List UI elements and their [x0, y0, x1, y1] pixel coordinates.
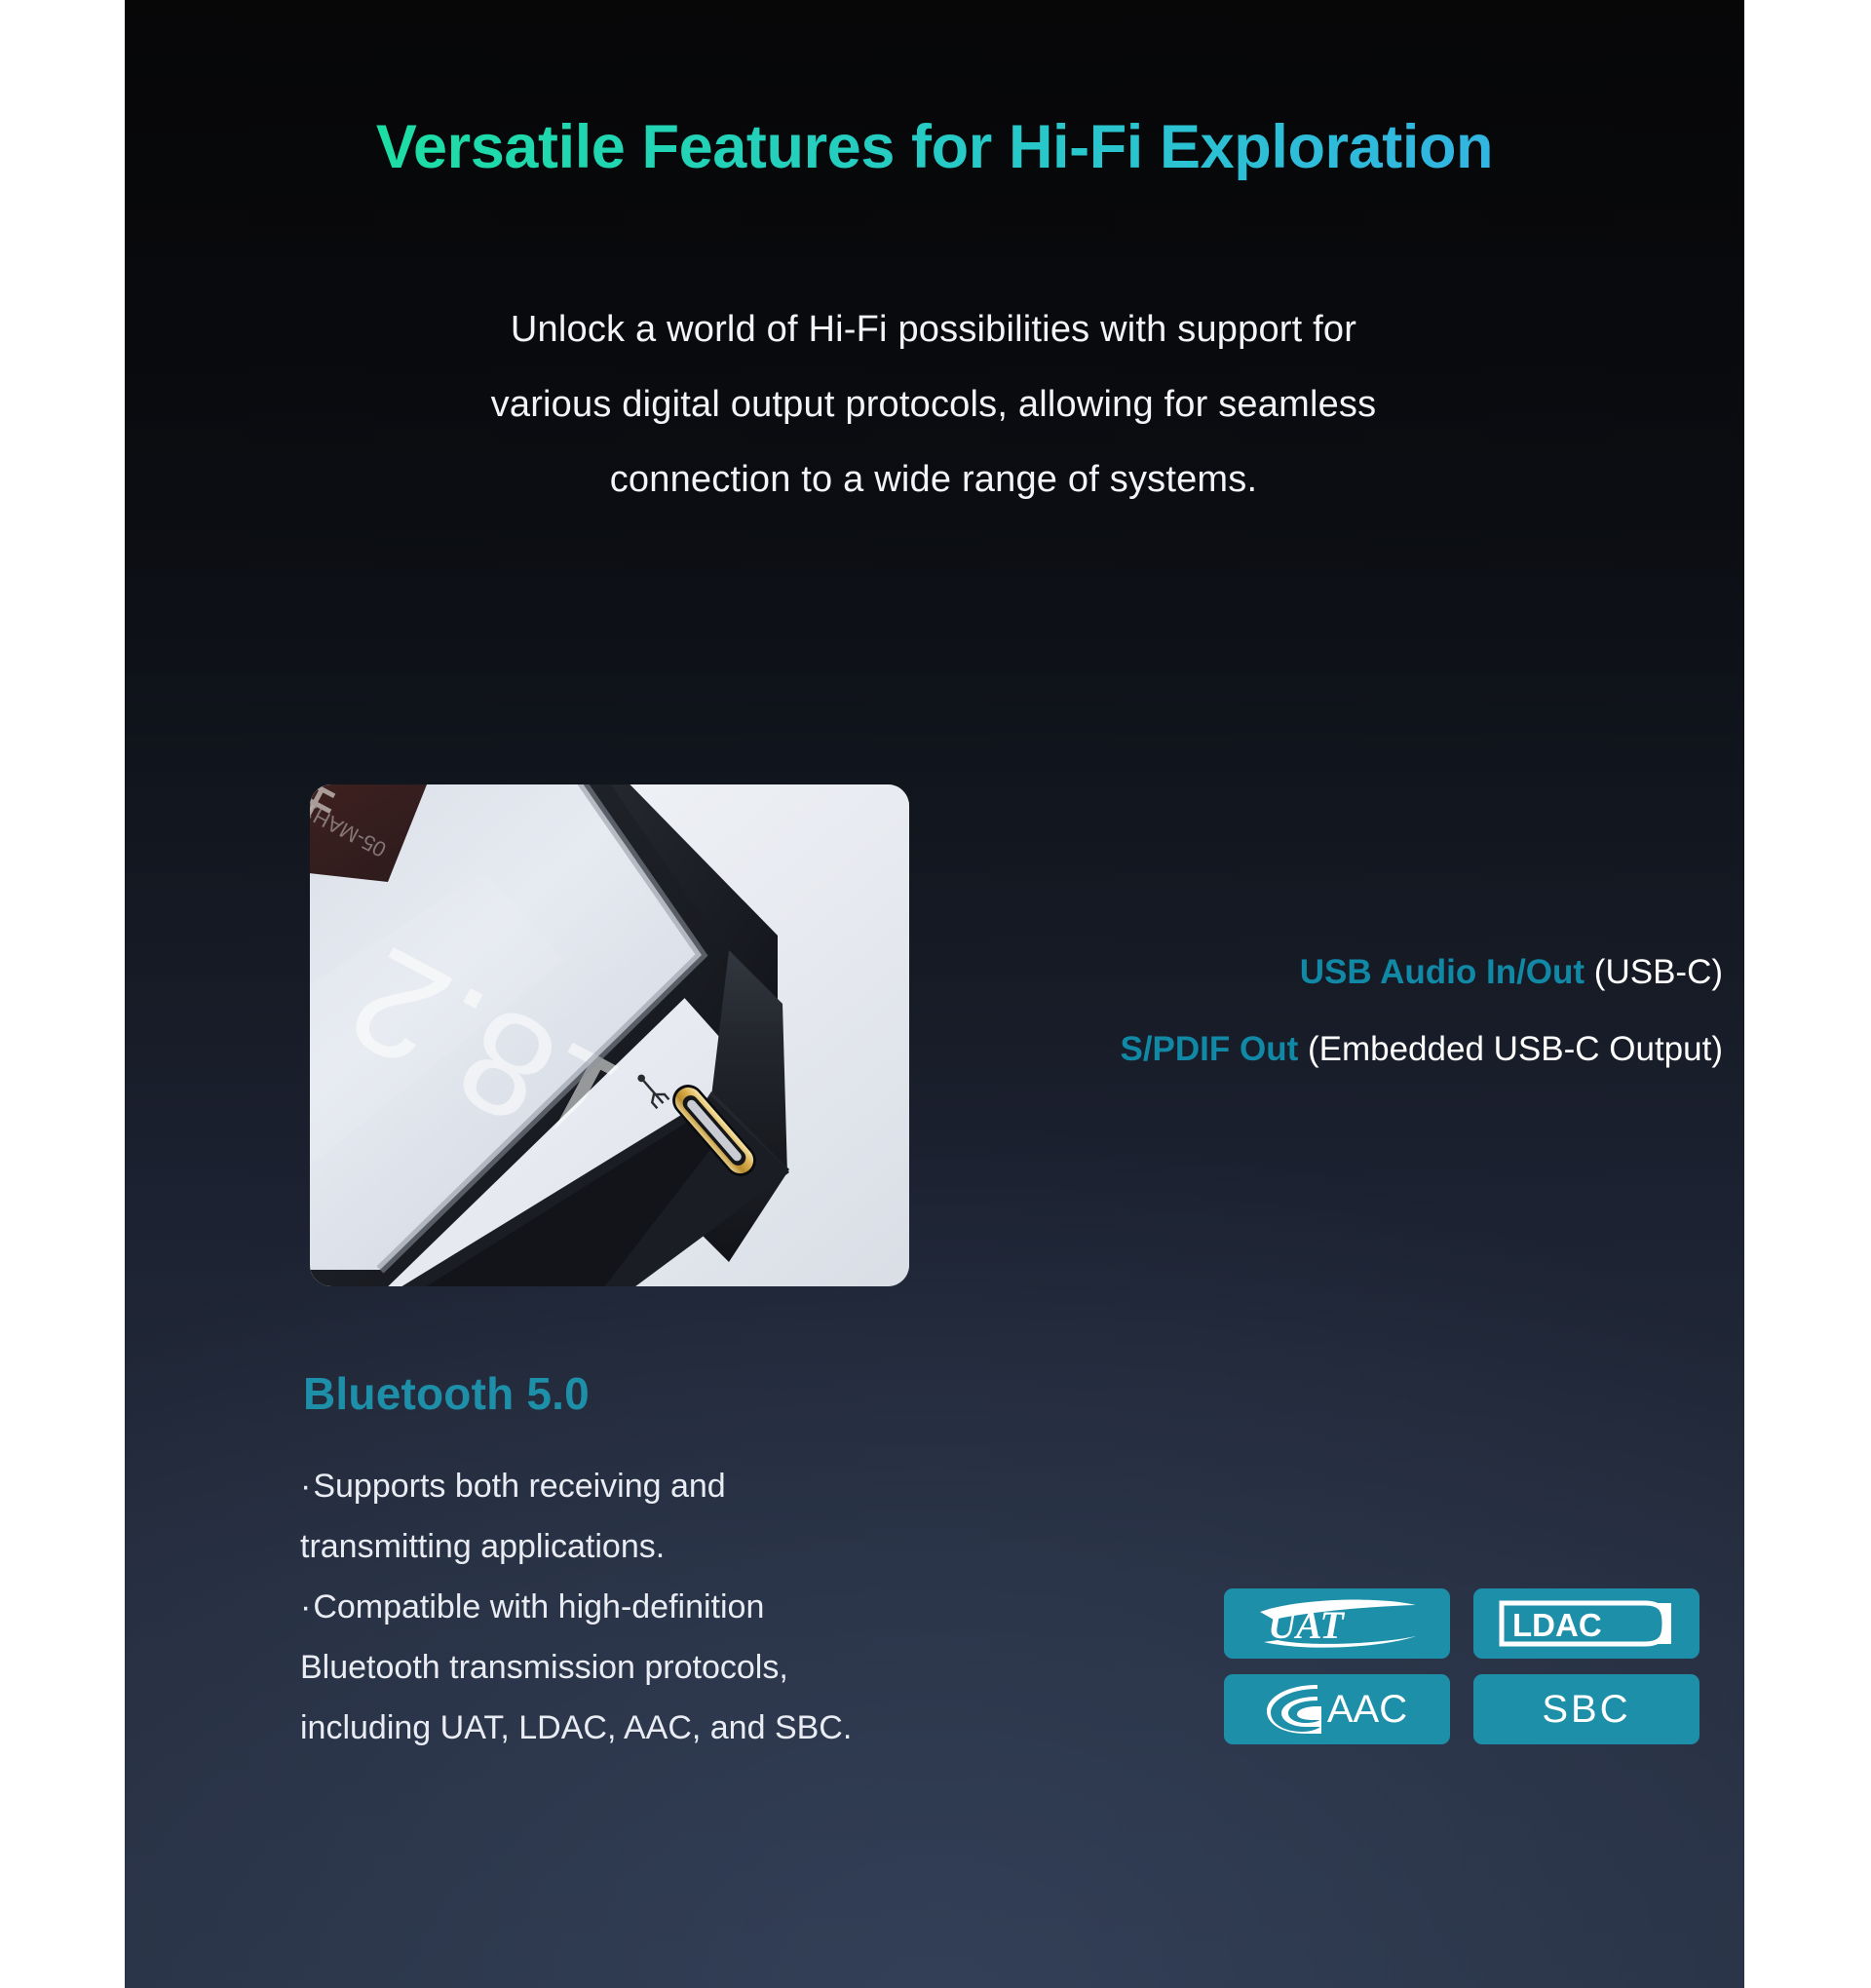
product-photo: 05-MAH1 18.2 [310, 784, 909, 1286]
intro-line-3: connection to a wide range of systems. [359, 442, 1508, 517]
svg-text:LDAC: LDAC [1512, 1607, 1602, 1643]
bullet-icon: · [300, 1468, 311, 1505]
output-protocol-list: USB Audio In/Out (USB-C) S/PDIF Out (Emb… [865, 955, 1723, 1066]
list-item-text: Supports both receiving and [313, 1468, 725, 1505]
output-label-spdif: S/PDIF Out [1120, 1030, 1298, 1068]
aac-wave-icon [1267, 1683, 1325, 1736]
output-detail-usb: (USB-C) [1585, 953, 1723, 991]
bluetooth-feature-list: ·Supports both receiving and transmittin… [300, 1457, 1060, 1758]
uat-logo-icon: UAT [1254, 1596, 1420, 1651]
ldac-logo-icon: LDAC [1499, 1600, 1674, 1647]
output-row-usb: USB Audio In/Out (USB-C) [865, 955, 1723, 989]
content-panel: Versatile Features for Hi-Fi Exploration… [125, 0, 1744, 1988]
codec-badge-sbc: SBC [1473, 1674, 1699, 1744]
output-row-spdif: S/PDIF Out (Embedded USB-C Output) [865, 1032, 1723, 1066]
list-item-text: Compatible with high-definition [313, 1588, 764, 1625]
codec-badge-aac: AAC [1224, 1674, 1450, 1744]
intro-paragraph: Unlock a world of Hi-Fi possibilities wi… [359, 292, 1508, 516]
list-item-text: transmitting applications. [300, 1528, 665, 1565]
list-item: ·Supports both receiving and [300, 1457, 1060, 1517]
svg-text:UAT: UAT [1268, 1603, 1345, 1647]
list-item: Bluetooth transmission protocols, [300, 1638, 1060, 1699]
list-item: including UAT, LDAC, AAC, and SBC. [300, 1699, 1060, 1759]
bullet-icon: · [300, 1588, 311, 1625]
list-item: transmitting applications. [300, 1517, 1060, 1578]
list-item-text: Bluetooth transmission protocols, [300, 1649, 788, 1686]
intro-line-2: various digital output protocols, allowi… [359, 367, 1508, 442]
codec-badge-label-aac: AAC [1327, 1688, 1407, 1732]
product-feature-page: Versatile Features for Hi-Fi Exploration… [0, 0, 1871, 1988]
codec-badge-uat: UAT [1224, 1588, 1450, 1659]
page-title: Versatile Features for Hi-Fi Exploration [125, 113, 1744, 182]
list-item-text: including UAT, LDAC, AAC, and SBC. [300, 1709, 852, 1746]
bluetooth-heading: Bluetooth 5.0 [303, 1367, 590, 1420]
output-detail-spdif: (Embedded USB-C Output) [1298, 1030, 1723, 1068]
list-item: ·Compatible with high-definition [300, 1578, 1060, 1638]
codec-badge-grid: UAT LDAC AAC SBC [1224, 1588, 1699, 1744]
output-label-usb: USB Audio In/Out [1300, 953, 1585, 991]
intro-line-1: Unlock a world of Hi-Fi possibilities wi… [359, 292, 1508, 367]
codec-badge-ldac: LDAC [1473, 1588, 1699, 1659]
codec-badge-label-sbc: SBC [1542, 1688, 1630, 1732]
